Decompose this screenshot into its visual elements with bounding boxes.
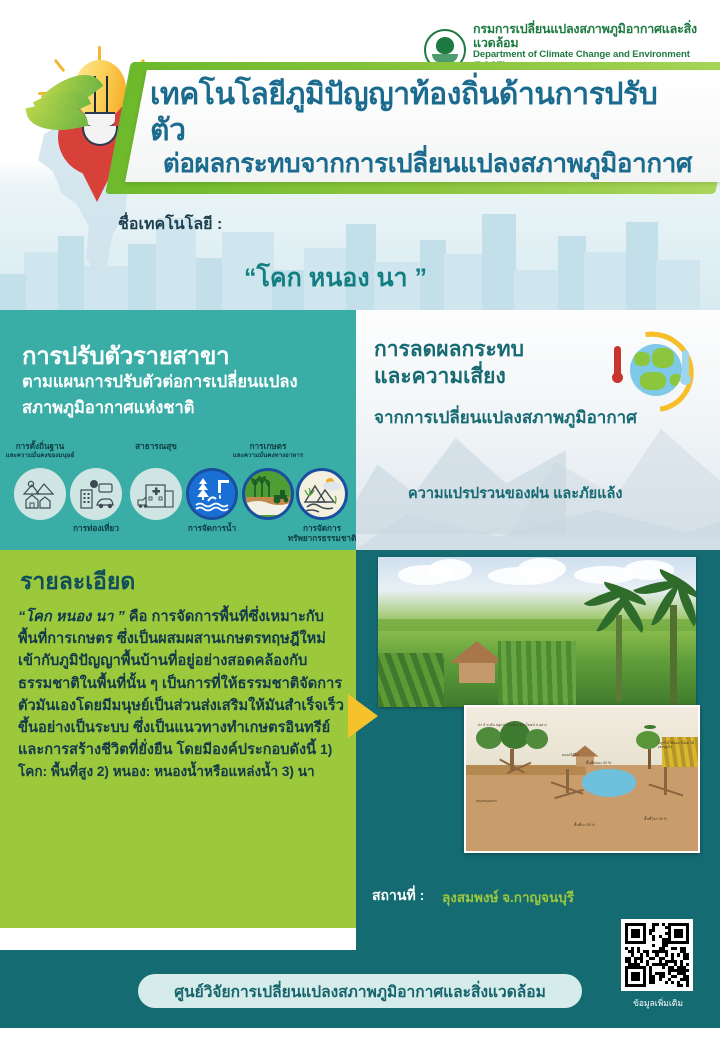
location-label: สถานที่ : — [372, 885, 424, 907]
poster-title: เทคโนโลยีภูมิปัญญาท้องถิ่นด้านการปรับตัว… — [150, 76, 720, 180]
adaptation-sector-panel: การปรับตัวรายสาขา ตามแผนการปรับตัวต่อการ… — [0, 310, 356, 550]
qr-caption: ข้อมูลเพิ่มเติม — [617, 996, 699, 1010]
org-name-th: กรมการเปลี่ยนแปลงสภาพภูมิอากาศและสิ่งแวด… — [473, 22, 720, 50]
sector-label-agriculture: การเกษตร และความมั่นคงทางอาหาร — [208, 442, 328, 460]
mitigation-risk-panel: การลดผลกระทบ และความเสี่ยง จากการเปลี่ยน… — [356, 310, 720, 550]
diagram-caption-1: คลองไส้ไก่ — [562, 753, 608, 757]
globe-thermometer-climate-icon — [604, 328, 696, 416]
sector-item-agriculture[interactable]: การเกษตร และความมั่นคงทางอาหาร — [242, 468, 294, 520]
public-health-hospital-icon — [130, 468, 182, 520]
tourism-city-car-icon — [70, 468, 122, 520]
details-panel: รายละเอียด “โคก หนอง นา ” คือ การจัดการพ… — [0, 550, 356, 928]
adaptation-subheading-line2: สภาพภูมิอากาศแห่งชาติ — [22, 399, 195, 417]
risk-text: ความแปรปรวนของฝน และภัยแล้ง — [408, 482, 622, 505]
technology-name-value: “โคก หนอง นา ” — [244, 258, 427, 298]
technology-name-label: ชื่อเทคโนโลยี : — [118, 212, 222, 237]
title-line-2: ต่อผลกระทบจากการเปลี่ยนแปลงสภาพภูมิอากาศ — [163, 148, 692, 179]
sector-label-public-health: สาธารณสุข — [96, 442, 216, 452]
triangle-right-arrow-icon — [348, 694, 378, 738]
sector-label-natural-resource: การจัดการ ทรัพยากรธรรมชาติ — [262, 524, 356, 545]
agriculture-wheat-tractor-icon — [242, 468, 294, 520]
settlement-houses-mountain-icon — [14, 468, 66, 520]
sector-icon-row: การตั้งถิ่นฐาน และความมั่นคงของมนุษย์ — [0, 444, 356, 550]
water-management-tap-river-icon — [186, 468, 238, 520]
adaptation-subheading: ตามแผนการปรับตัวต่อการเปลี่ยนแปลง สภาพภู… — [22, 370, 348, 421]
details-quoted-term: “โคก หนอง นา ” — [18, 609, 125, 625]
sector-label-tourism: การท่องเที่ยว — [36, 524, 156, 534]
diagram-caption-5: ปลูกไม้ใช้สอย ไม้ผล ไม้เศรษฐกิจ — [658, 741, 700, 750]
bottom-white-strip — [0, 1028, 720, 1040]
sector-item-settlement[interactable]: การตั้งถิ่นฐาน และความมั่นคงของมนุษย์ — [14, 468, 66, 520]
mitigation-heading-line1: การลดผลกระทบ — [374, 338, 524, 361]
mitigation-heading: การลดผลกระทบ และความเสี่ยง — [374, 336, 614, 391]
adaptation-subheading-line1: ตามแผนการปรับตัวต่อการเปลี่ยนแปลง — [22, 373, 298, 391]
footer-center-name: ศูนย์วิจัยการเปลี่ยนแปลงสภาพภูมิอากาศและ… — [138, 974, 582, 1008]
details-title: รายละเอียด — [20, 564, 135, 600]
natural-resource-mountain-icon — [296, 468, 348, 520]
title-line-1: เทคโนโลยีภูมิปัญญาท้องถิ่นด้านการปรับตัว — [150, 77, 692, 148]
sector-item-water[interactable]: การจัดการน้ำ — [186, 468, 238, 520]
farm-hut — [450, 641, 504, 683]
header-band: กรมการเปลี่ยนแปลงสภาพภูมิอากาศและสิ่งแวด… — [0, 0, 720, 310]
sector-item-tourism[interactable]: การท่องเที่ยว — [70, 468, 122, 520]
khok-nong-na-model-diagram: โคก หนอง นา โมเดล ป่า 5 ระดับ ปลูกป่า 3 … — [464, 705, 700, 853]
details-body-text: คือ การจัดการพื้นที่ซึ่งเหมาะกับพื้นที่ก… — [18, 609, 344, 758]
sector-label-water: การจัดการน้ำ — [152, 524, 272, 534]
location-value: ลุงสมพงษ์ จ.กาญจนบุรี — [442, 886, 574, 908]
diagram-caption-6: พื้นที่โคก 30 % — [644, 817, 694, 821]
diagram-caption-2: หลุมขนมครก — [476, 799, 556, 803]
qr-code-icon[interactable] — [621, 919, 693, 991]
poster-root: กรมการเปลี่ยนแปลงสภาพภูมิอากาศและสิ่งแวด… — [0, 0, 720, 1040]
diagram-caption-3: พื้นที่หนอง 30 % — [586, 761, 630, 765]
sector-item-public-health[interactable]: สาธารณสุข — [130, 468, 182, 520]
details-body: “โคก หนอง นา ” คือ การจัดการพื้นที่ซึ่งเ… — [18, 606, 344, 783]
farm-photo — [378, 557, 696, 707]
mitigation-heading-line2: และความเสี่ยง — [374, 365, 506, 388]
diagram-caption-0: ป่า 5 ระดับ ปลูกป่า 3 อย่าง ประโยชน์ 4 อ… — [478, 723, 548, 727]
sector-item-natural-resource[interactable]: การจัดการ ทรัพยากรธรรมชาติ — [296, 468, 348, 520]
diagram-caption-4: พื้นที่นา 30 % — [574, 823, 626, 827]
sector-label-settlement: การตั้งถิ่นฐาน และความมั่นคงของมนุษย์ — [0, 442, 100, 460]
